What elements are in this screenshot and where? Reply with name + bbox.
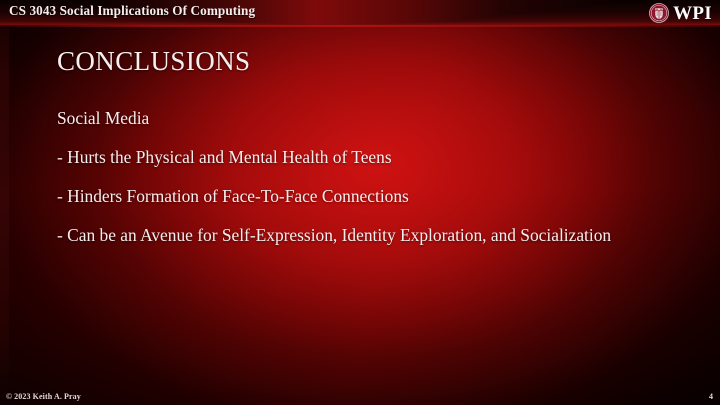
body-line: Social Media [57,108,667,130]
copyright-notice: © 2023 Keith A. Pray [6,392,81,401]
wpi-wordmark: WPI [673,4,712,23]
body-line: - Can be an Avenue for Self-Expression, … [57,225,667,247]
slide-page-number: 4 [709,392,713,401]
wpi-seal-icon [649,3,669,23]
slide-body: Social Media - Hurts the Physical and Me… [57,108,667,247]
course-title: CS 3043 Social Implications Of Computing [9,3,255,19]
wpi-logo: WPI [649,1,712,25]
left-edge-stripe [0,0,9,405]
header-underline-divider [0,25,720,27]
slide-title: CONCLUSIONS [57,48,250,75]
body-line: - Hinders Formation of Face-To-Face Conn… [57,186,667,208]
body-line: - Hurts the Physical and Mental Health o… [57,147,667,169]
presentation-slide: CS 3043 Social Implications Of Computing… [0,0,720,405]
